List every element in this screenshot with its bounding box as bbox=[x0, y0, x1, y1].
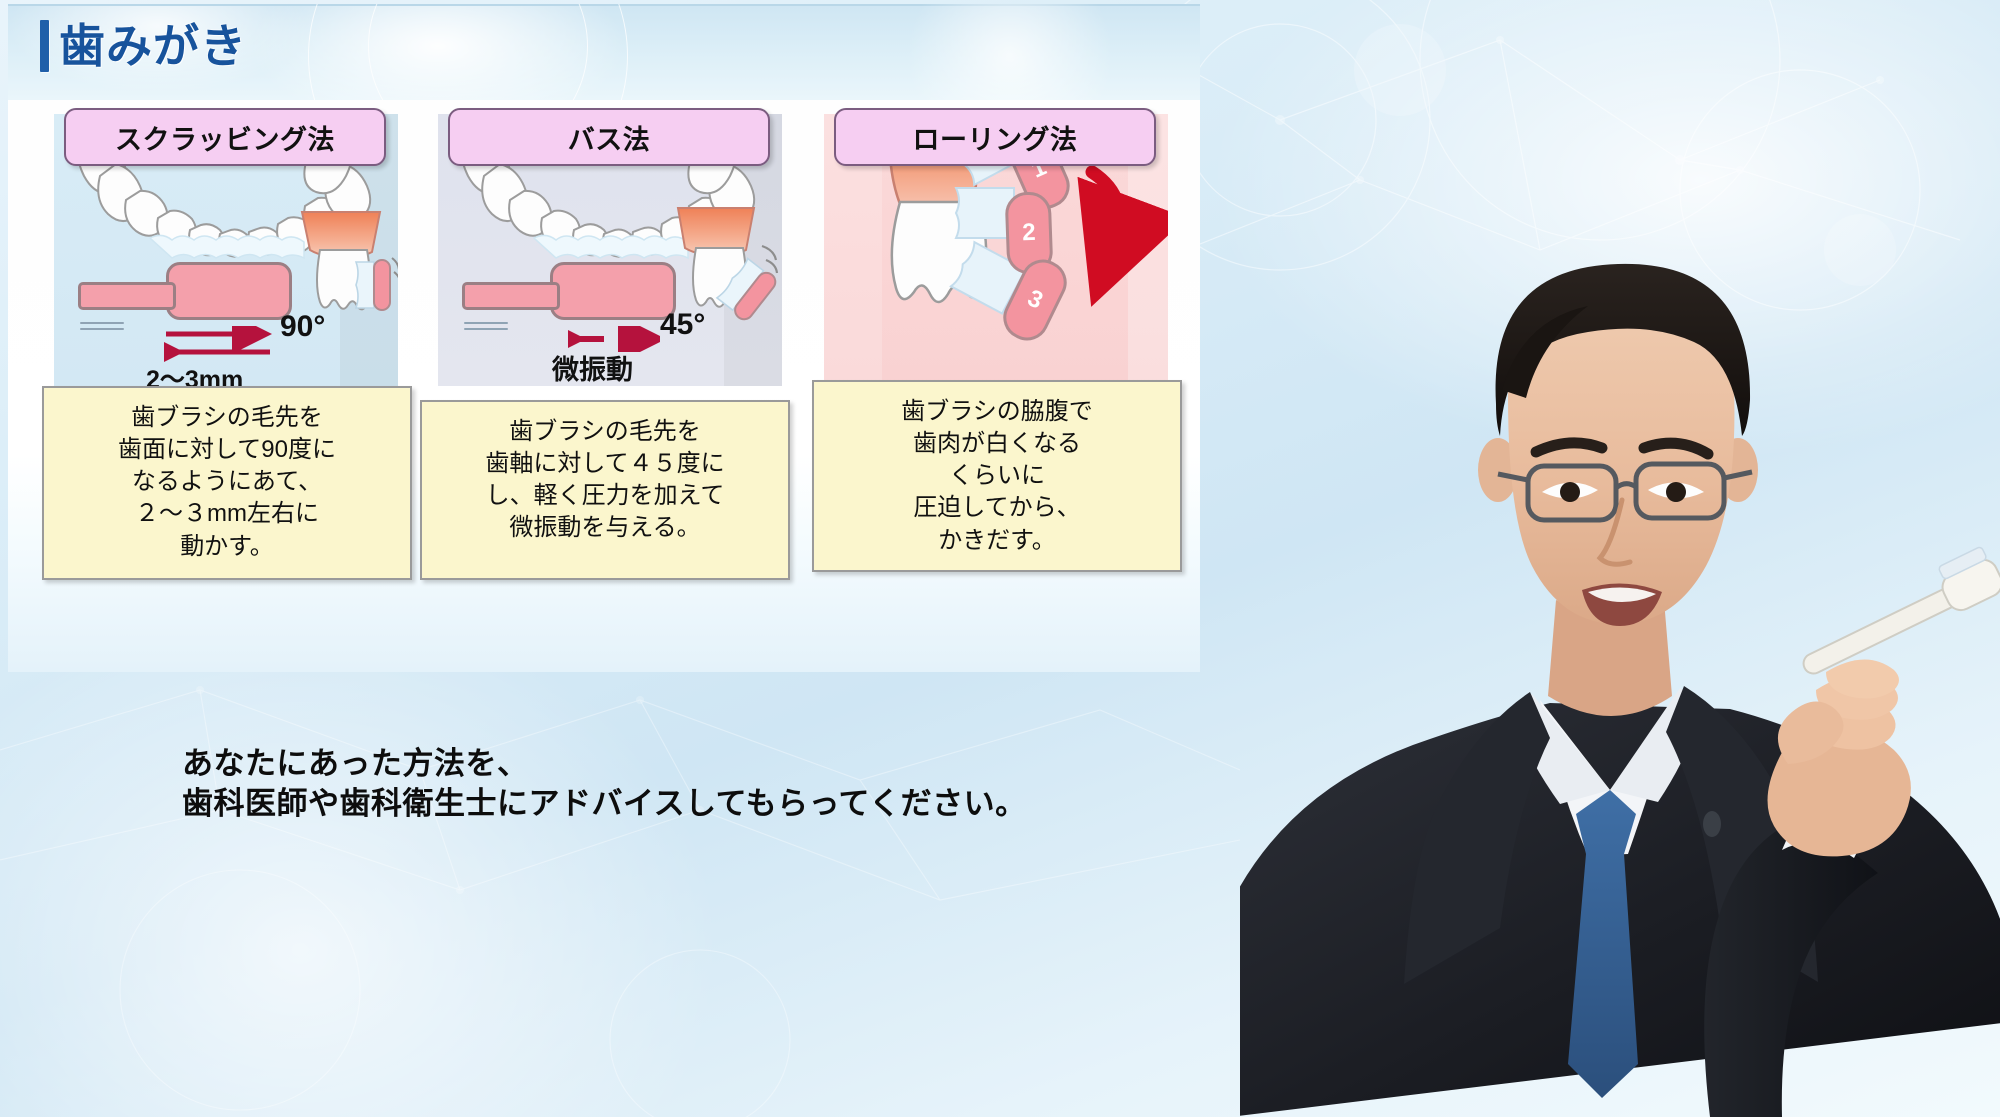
bass-angle-label: 45° bbox=[660, 308, 705, 342]
method-chip-label: バス法 bbox=[568, 118, 651, 157]
method-chip-label: スクラッビング法 bbox=[115, 118, 335, 157]
page-title: 歯みがき bbox=[59, 23, 247, 69]
toothbrush-handle bbox=[462, 282, 560, 310]
slide-body: 2〜3mm bbox=[8, 100, 1200, 672]
method-caption-bass: 歯ブラシの毛先を 歯軸に対して４５度に し、軽く圧力を加えて 微振動を与える。 bbox=[420, 400, 790, 580]
method-caption-scrubbing: 歯ブラシの毛先を 歯面に対して90度に なるようにあて、 ２～３mm左右に 動か… bbox=[42, 386, 412, 580]
advisory-text: あなたにあった方法を、 歯科医師や歯科衛生士にアドバイスしてもらってください。 bbox=[182, 744, 1027, 823]
toothbrush-head bbox=[550, 262, 676, 320]
page-title-group: 歯みがき bbox=[40, 20, 247, 72]
handle-grip-lines bbox=[464, 322, 508, 334]
method-chip-scrubbing[interactable]: スクラッビング法 bbox=[64, 108, 386, 166]
handle-grip-lines bbox=[80, 322, 124, 334]
method-chip-bass[interactable]: バス法 bbox=[448, 108, 770, 166]
toothbrush-head bbox=[166, 262, 292, 320]
scrubbing-distance-label: 2〜3mm bbox=[146, 360, 243, 386]
rolling-step-label: 2 bbox=[1022, 219, 1036, 247]
method-caption-rolling: 歯ブラシの脇腹で 歯肉が白くなる くらいに 圧迫してから、 かきだす。 bbox=[812, 380, 1182, 572]
scrubbing-angle-label: 90° bbox=[280, 310, 325, 344]
method-chip-rolling[interactable]: ローリング法 bbox=[834, 108, 1156, 166]
toothbrush-handle bbox=[78, 282, 176, 310]
slide-header: 歯みがき bbox=[8, 4, 1200, 100]
slide: 歯みがき bbox=[8, 4, 1200, 672]
method-chip-label: ローリング法 bbox=[913, 118, 1078, 157]
bass-motion-label: 微振動 bbox=[552, 348, 633, 386]
title-accent-bar bbox=[40, 20, 49, 72]
scrubbing-motion-arrows bbox=[164, 326, 274, 364]
rolling-step-label: 3 bbox=[1023, 284, 1047, 315]
